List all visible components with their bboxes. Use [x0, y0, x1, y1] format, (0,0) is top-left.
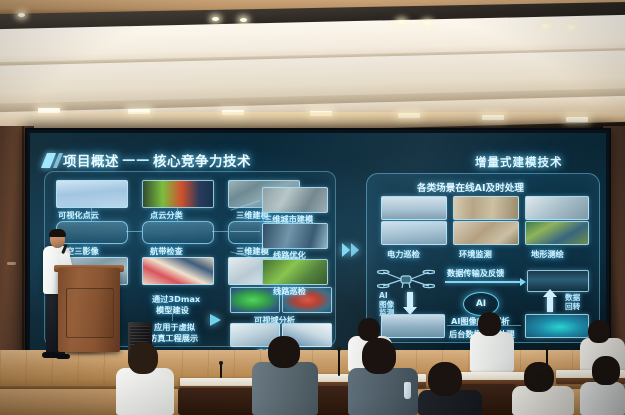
fan-connector [230, 231, 260, 232]
audience-member [470, 332, 514, 372]
thumbnail-route-optimize [262, 223, 328, 249]
process-chip-1 [56, 221, 128, 244]
flow-connector [212, 231, 228, 232]
audience-head [268, 336, 300, 368]
slide-title-main: 项目概述 [63, 150, 119, 170]
thumbnail-power-line-sky [381, 196, 447, 220]
thumbnail-power-tower [381, 221, 447, 245]
thumbnail-terrain-map [525, 221, 589, 245]
up-arrow-icon [547, 296, 553, 312]
label-env-monitoring: 环境监测 [459, 248, 492, 260]
audience-head [592, 356, 620, 385]
ceiling-spotlight [398, 20, 405, 24]
slide-title-sub: 核心竞争力技术 [153, 150, 251, 170]
ceiling-spotlight [568, 25, 575, 29]
ai-oval-label: AI [476, 299, 486, 309]
ai-badge-line1: AI [379, 291, 388, 300]
water-bottle [404, 382, 411, 399]
wall-seam [22, 126, 24, 358]
return-badge-line1: 数据 [565, 293, 580, 302]
presenter-shoe [56, 354, 70, 359]
flow-connector [177, 207, 178, 221]
microphone-head [219, 361, 223, 365]
right-slide-subtitle: 各类场景在线AI及时处理 [417, 180, 524, 194]
label-row2-0: 空三影像 [66, 245, 99, 257]
ceiling-spotlight [542, 24, 549, 28]
podium-front-panel [66, 288, 114, 338]
transmission-arrow-icon [445, 281, 521, 283]
flow-connector [126, 231, 142, 232]
slide-title: 项目概述 —— 核心竞争力技术 [44, 150, 251, 170]
audience-head [478, 312, 501, 336]
audience-head [428, 362, 462, 396]
ceiling-spotlight [18, 13, 25, 17]
label-route-patrol: 线路巡检 [273, 285, 306, 297]
drone-icon [377, 266, 435, 292]
audience-head [588, 320, 610, 343]
thumbnail-route-patrol [262, 259, 328, 285]
down-arrow-icon [407, 292, 413, 308]
return-badge-line2: 回转 [565, 302, 580, 311]
audience-head [362, 338, 396, 374]
note-arrow-icon [210, 314, 221, 326]
note-virtual-line2: 仿真工程展示 [149, 332, 198, 344]
chevron-right-icon [351, 243, 359, 257]
flow-connector [172, 314, 173, 321]
audience-head [524, 362, 554, 392]
label-power-inspection: 电力巡检 [387, 248, 420, 260]
microphone-head [337, 347, 341, 351]
process-chip-2 [142, 221, 214, 244]
thumbnail-environment-top [453, 196, 519, 220]
thumbnail-terrain-top [525, 196, 589, 220]
ceiling-spotlight [212, 17, 219, 21]
double-chevron-right-icon [342, 243, 359, 257]
thumbnail-environment-bot [453, 221, 519, 245]
flow-connector [91, 207, 92, 221]
thumbnail-control-console [527, 270, 589, 292]
desk-microphone [220, 364, 222, 378]
label-row1-0: 可视化点云 [58, 209, 99, 221]
thumbnail-ai-result [525, 314, 589, 338]
thumbnail-flight-strip [142, 257, 214, 285]
conference-presentation-scene: 项目概述 —— 核心竞争力技术 可视化点云 点云分类 三维建模 空三影像 航带检 [0, 0, 625, 415]
audience-member [116, 368, 174, 415]
audience-chair [178, 388, 258, 415]
thumbnail-analysis-screen [381, 314, 445, 338]
audience-member [252, 362, 318, 415]
ceiling-spotlight [240, 18, 247, 22]
thumbnail-classification [142, 180, 214, 208]
chevron-right-icon [342, 243, 350, 257]
thumbnail-point-cloud [56, 180, 128, 208]
wall-fixture [7, 262, 16, 265]
label-data-transmission: 数据传输及反馈 [447, 267, 504, 279]
label-row2-1: 航带检查 [150, 245, 183, 257]
desk-microphone [338, 350, 340, 376]
label-data-return: 数据 回转 [565, 294, 580, 311]
microphone-head [545, 343, 549, 347]
label-terrain-surveying: 地形测绘 [531, 248, 564, 260]
ceiling-spotlight [424, 21, 431, 25]
audience-member [580, 382, 625, 415]
thumbnail-city-model [262, 187, 328, 213]
audience-head [128, 342, 158, 374]
right-slide-title: 增量式建模技术 [475, 154, 563, 170]
presenter-hair [49, 229, 66, 237]
slide-title-dash: —— [122, 152, 150, 168]
